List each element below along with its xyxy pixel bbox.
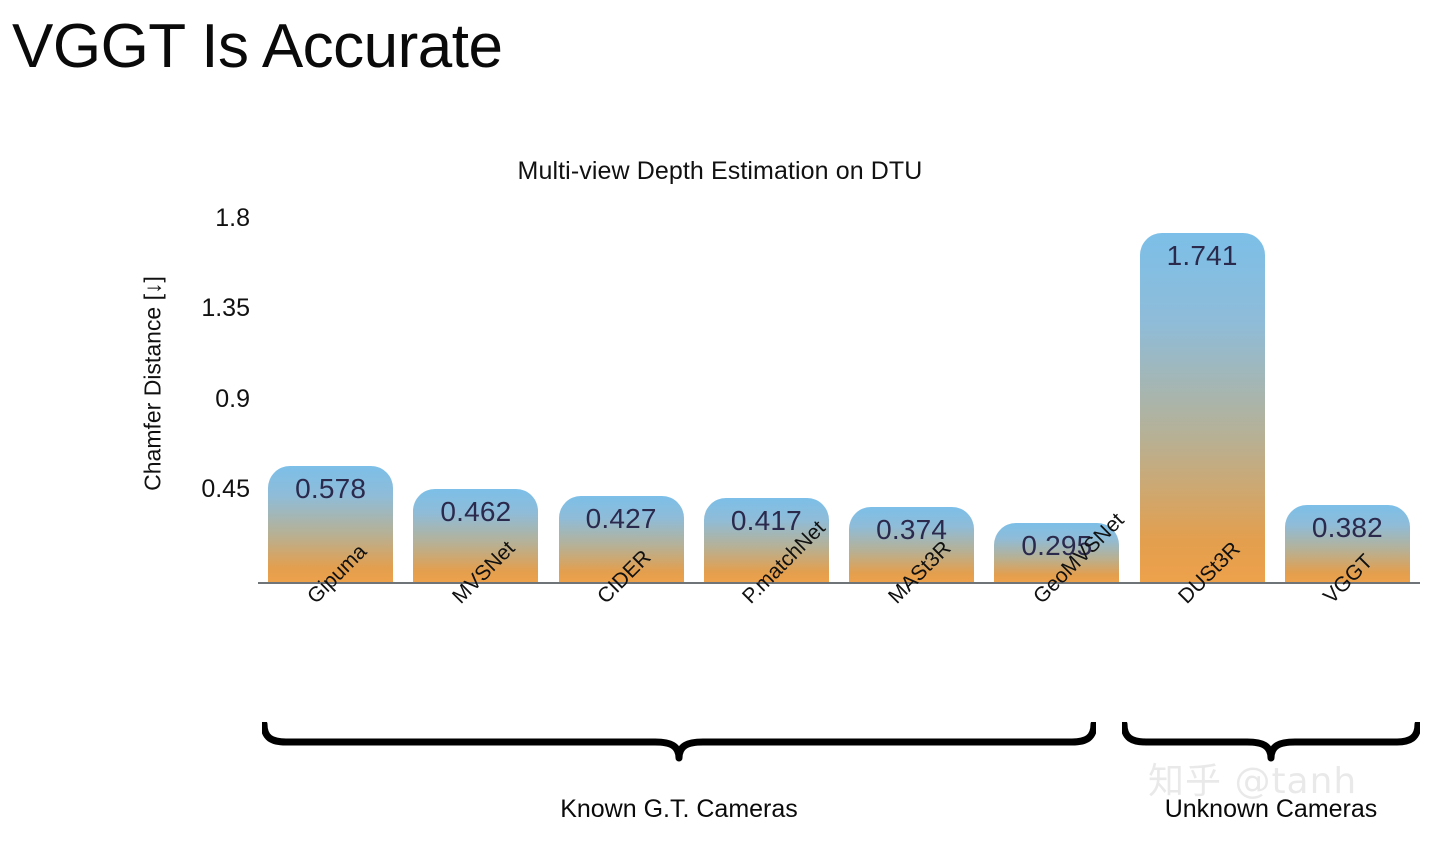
bar-value-label: 0.427 [559, 503, 684, 535]
bar: 1.741 [1140, 233, 1265, 582]
bar-value-label: 0.578 [268, 473, 393, 505]
bar-value-label: 0.382 [1285, 512, 1410, 544]
chart-figure: Multi-view Depth Estimation on DTU Chamf… [0, 0, 1440, 841]
plot-area: 0.5780.4620.4270.4170.3740.2951.7410.382 [258, 200, 1420, 582]
y-axis-ticks: 1.81.350.90.45 [120, 0, 250, 841]
group-brace [262, 722, 1096, 762]
y-tick-label: 1.35 [130, 294, 250, 323]
bar-value-label: 1.741 [1140, 240, 1265, 272]
y-tick-label: 0.9 [130, 385, 250, 414]
y-tick-label: 0.45 [130, 475, 250, 504]
group-label-known-gt-cameras: Known G.T. Cameras [262, 795, 1096, 824]
y-tick-label: 1.8 [130, 204, 250, 233]
axis-baseline [258, 582, 1420, 584]
bar-value-label: 0.462 [413, 496, 538, 528]
group-brace [1122, 722, 1420, 762]
bar-value-label: 0.374 [849, 514, 974, 546]
group-label-unknown-cameras: Unknown Cameras [1122, 795, 1420, 824]
chart-title: Multi-view Depth Estimation on DTU [98, 157, 1342, 186]
